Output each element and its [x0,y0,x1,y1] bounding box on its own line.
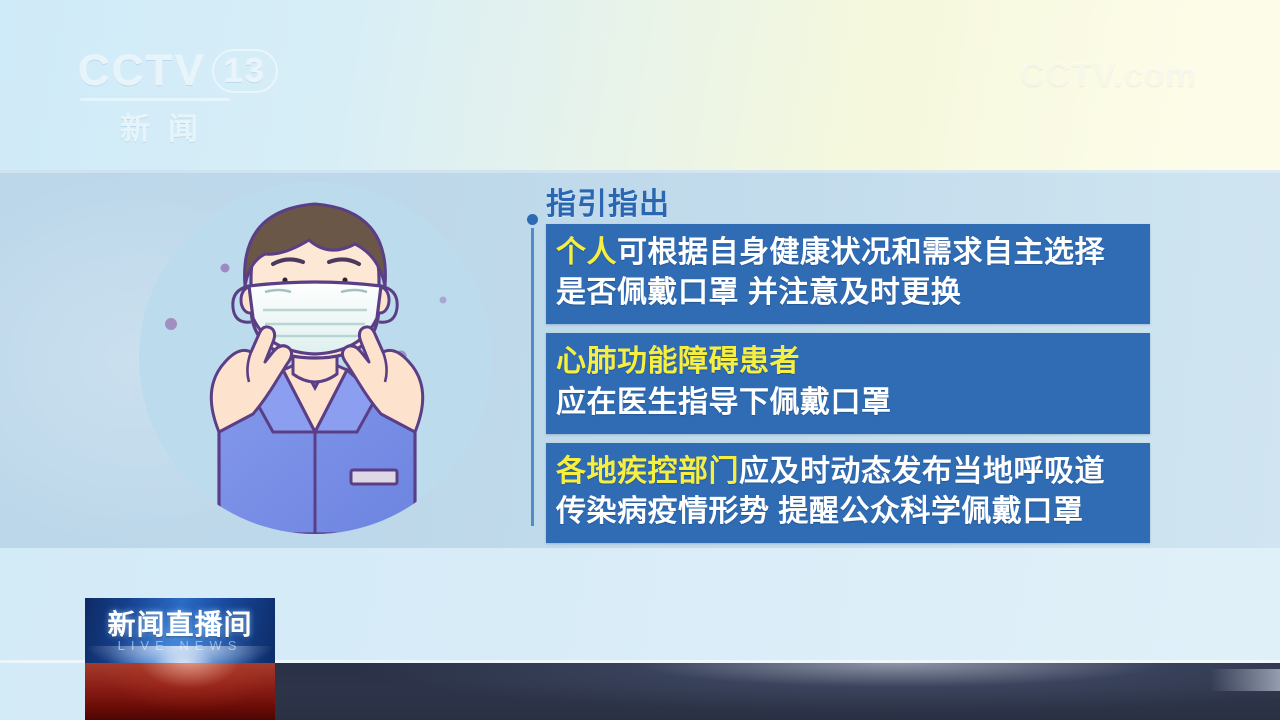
mask-illustration [133,182,498,534]
logo-row-primary: CCTV 13 [78,46,278,96]
guideline-text: 传染病疫情形势 提醒公众科学佩戴口罩 [556,495,1083,528]
guideline-block: 各地疾控部门应及时动态发布当地呼吸道 传染病疫情形势 提醒公众科学佩戴口罩 [546,443,1150,543]
page-title: 指引指出 [546,179,670,223]
program-title: 新闻直播间 [93,603,267,643]
guideline-block: 个人可根据自身健康状况和需求自主选择 是否佩戴口罩 并注意及时更换 [546,224,1150,324]
timeline-dot [527,214,538,225]
logo-rule [80,98,230,101]
guideline-blocks: 个人可根据自身健康状况和需求自主选择 是否佩戴口罩 并注意及时更换 心肺功能障碍… [546,224,1150,552]
guideline-block: 心肺功能障碍患者 应在医生指导下佩戴口罩 [546,333,1150,433]
cctv13-logo: CCTV 13 新闻 [78,46,278,144]
timeline-line [531,228,534,526]
program-banner: 新闻直播间 LIVE NEWS [85,598,275,663]
cctv-com-watermark: CCTV.com [1020,56,1210,106]
guideline-text: 可根据自身健康状况和需求自主选择 [617,236,1105,269]
guideline-line: 个人可根据自身健康状况和需求自主选择 [556,233,1138,273]
guideline-highlight: 心肺功能障碍患者 [556,345,800,378]
guideline-text: 是否佩戴口罩 并注意及时更换 [556,276,961,309]
logo-cctv-text: CCTV [78,46,206,96]
timeline-connector [527,214,541,526]
guideline-line: 心肺功能障碍患者 [556,342,1138,382]
guideline-text: 应在医生指导下佩戴口罩 [556,386,892,419]
guideline-text: 应及时动态发布当地呼吸道 [739,455,1105,488]
lower-third-dark-bar [275,663,1280,720]
guideline-highlight: 个人 [556,236,617,269]
guideline-line: 应在医生指导下佩戴口罩 [556,383,1138,423]
broadcast-frame: CCTV 13 新闻 CCTV.com [0,0,1280,720]
guideline-line: 是否佩戴口罩 并注意及时更换 [556,273,1138,313]
logo-channel-number: 13 [212,49,278,93]
logo-subtitle: 新闻 [120,104,278,148]
lower-third-red-block [85,663,275,720]
dark-bar-highlight [1210,669,1280,691]
guideline-line: 各地疾控部门应及时动态发布当地呼吸道 [556,452,1138,492]
banner-shine [85,646,275,663]
guideline-line: 传染病疫情形势 提醒公众科学佩戴口罩 [556,492,1138,532]
guideline-highlight: 各地疾控部门 [556,455,739,488]
